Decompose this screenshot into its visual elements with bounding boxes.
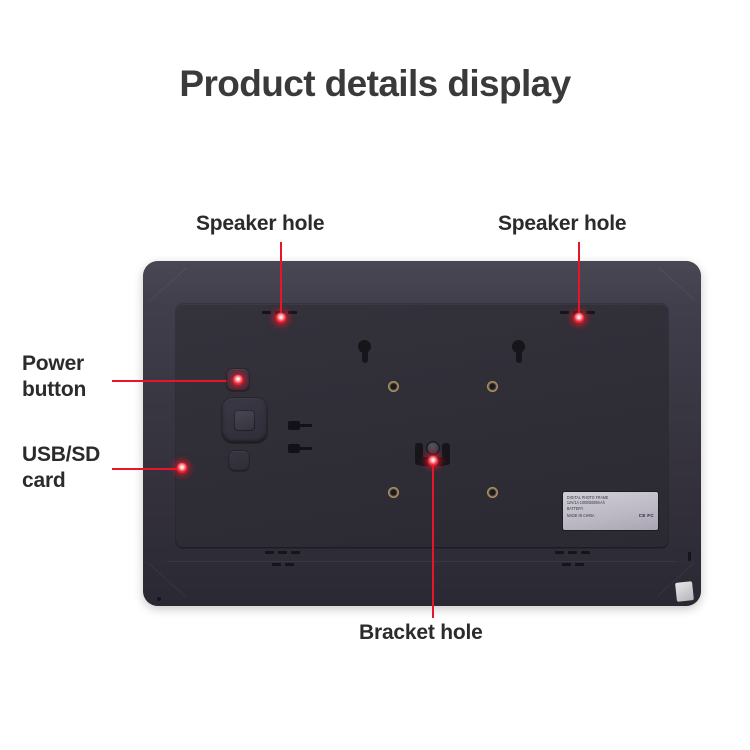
speaker-grille-bottom-left-row1 (265, 551, 300, 554)
keyhole-slot (362, 349, 368, 363)
port-tail (299, 424, 312, 427)
bracket-hole-ring (426, 441, 440, 455)
callout-label-speaker-hole-left: Speaker hole (196, 211, 324, 237)
corner-screw-top-right (688, 552, 691, 561)
grille-slot (265, 551, 274, 554)
port-tail (299, 447, 312, 450)
grille-slot (278, 551, 287, 554)
grille-slot (581, 551, 590, 554)
usb-sd-card-slot (229, 451, 249, 471)
grille-slot (285, 563, 294, 566)
spec-footer: MADE IN CHINA CE FC (567, 513, 654, 518)
page-title: Product details display (0, 63, 750, 105)
callout-label-usbsd-card: USB/SD card (22, 442, 100, 493)
marker-power-button (233, 375, 244, 386)
speaker-grille-bottom-left-row2 (272, 563, 294, 566)
spec-line-origin: MADE IN CHINA (567, 513, 595, 520)
wall-mount-keyhole-right (512, 340, 525, 363)
grille-slot (562, 563, 571, 566)
callout-label-bracket-hole: Bracket hole (359, 620, 483, 646)
vesa-screw-hole-top-left (388, 381, 399, 392)
product-details-page: Product details display (0, 0, 750, 750)
grille-slot (568, 551, 577, 554)
marker-bracket-hole (428, 456, 439, 467)
wall-mount-keyhole-left (358, 340, 371, 363)
leader-line-usbsd-card (112, 468, 182, 470)
vesa-screw-hole-bottom-left (388, 487, 399, 498)
grille-slot (288, 311, 297, 314)
grille-slot (586, 311, 595, 314)
callout-label-power-button: Power button (22, 351, 86, 402)
leader-line-power-button (112, 380, 238, 382)
marker-speaker-hole-right (574, 313, 585, 324)
certification-marks-icon: CE FC (639, 513, 654, 518)
vesa-screw-hole-bottom-right (487, 487, 498, 498)
marker-usbsd-card (177, 463, 188, 474)
grille-slot (555, 551, 564, 554)
spec-line-battery: BATTERY (567, 506, 654, 513)
speaker-grille-bottom-right-row2 (562, 563, 584, 566)
grille-slot (575, 563, 584, 566)
speaker-grille-bottom-right-row1 (555, 551, 590, 554)
marker-speaker-hole-left (276, 313, 287, 324)
keyhole-slot (516, 349, 522, 363)
leader-line-speaker-right (578, 242, 580, 318)
speaker-enclosure (222, 398, 267, 443)
leader-line-bracket-hole (432, 460, 434, 618)
corner-silver-tag (675, 581, 694, 602)
spec-label-sticker: DIGITAL PHOTO FRAME 12V/1A 1000/5000mAh … (563, 492, 658, 530)
vesa-screw-hole-top-right (487, 381, 498, 392)
grille-slot (560, 311, 569, 314)
leader-line-speaker-left (280, 242, 282, 318)
callout-label-speaker-hole-right: Speaker hole (498, 211, 626, 237)
grille-slot (272, 563, 281, 566)
device-lower-seam (167, 561, 677, 562)
grille-slot (262, 311, 271, 314)
grille-slot (291, 551, 300, 554)
corner-screw-bottom-left (157, 597, 161, 601)
